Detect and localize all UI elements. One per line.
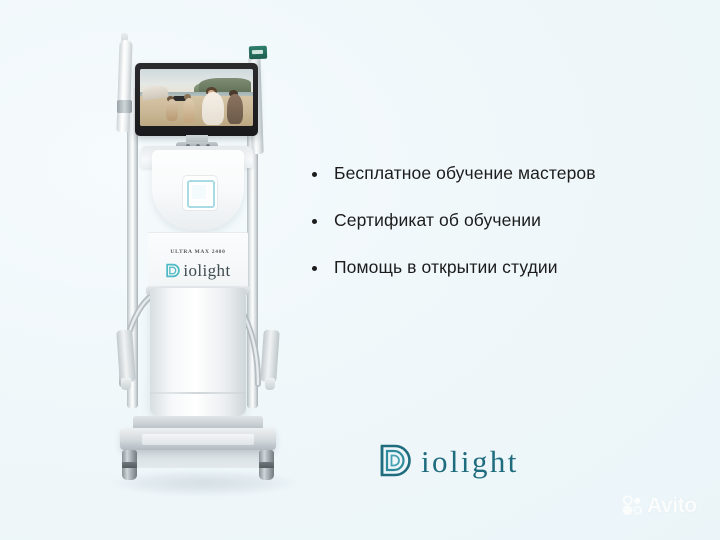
machine-lower-cabinet [150, 288, 246, 416]
list-item: Сертификат об обучении [312, 210, 702, 257]
machine-brand-word: iolight [183, 262, 230, 279]
machine-emblem-inner [192, 185, 206, 199]
screen-person-3 [202, 92, 223, 125]
feature-bullet-list: Бесплатное обучение мастеров Сертификат … [312, 163, 702, 304]
machine-model-text: ULTRA MAX 2400 [148, 249, 248, 255]
base-plate-inset [142, 434, 254, 445]
caster-wheel-left-tread [122, 462, 137, 468]
screen-person-4 [227, 94, 243, 124]
brand-logo: iolight [378, 443, 519, 479]
caster-wheel-right-tread [259, 462, 274, 468]
bullet-dot-icon [312, 266, 317, 271]
bullet-dot-icon [312, 172, 317, 177]
bullet-dot-icon [312, 219, 317, 224]
list-item: Помощь в открытии студии [312, 257, 702, 304]
base-underside [134, 448, 262, 468]
bullet-label: Сертификат об обучении [334, 210, 541, 232]
handpiece-right-cap-window [252, 50, 263, 54]
list-item: Бесплатное обучение мастеров [312, 163, 702, 210]
handpiece-holster-right-tip [265, 378, 275, 390]
cabinet-seam-line [150, 392, 246, 394]
handpiece-holster-left-tip [121, 378, 131, 390]
product-photo: ULTRA MAX 2400 iolight [0, 0, 300, 540]
brand-word: iolight [421, 446, 519, 477]
bullet-label: Бесплатное обучение мастеров [334, 163, 596, 185]
avito-circles-icon [622, 495, 643, 516]
slide-canvas: ULTRA MAX 2400 iolight [0, 0, 720, 540]
machine-display-screen [140, 69, 253, 126]
handpiece-left-mount [117, 100, 132, 113]
machine-brand-logo: iolight [148, 262, 248, 279]
screen-person-2 [183, 98, 195, 123]
avito-watermark: Avito [622, 495, 697, 516]
screen-person-1 [166, 99, 178, 122]
brand-d-mark-icon [378, 443, 412, 479]
bullet-label: Помощь в открытии студии [334, 257, 558, 279]
machine-d-mark-icon [165, 263, 180, 278]
avito-wordmark: Avito [647, 495, 697, 516]
machine-display-bezel [135, 63, 258, 136]
